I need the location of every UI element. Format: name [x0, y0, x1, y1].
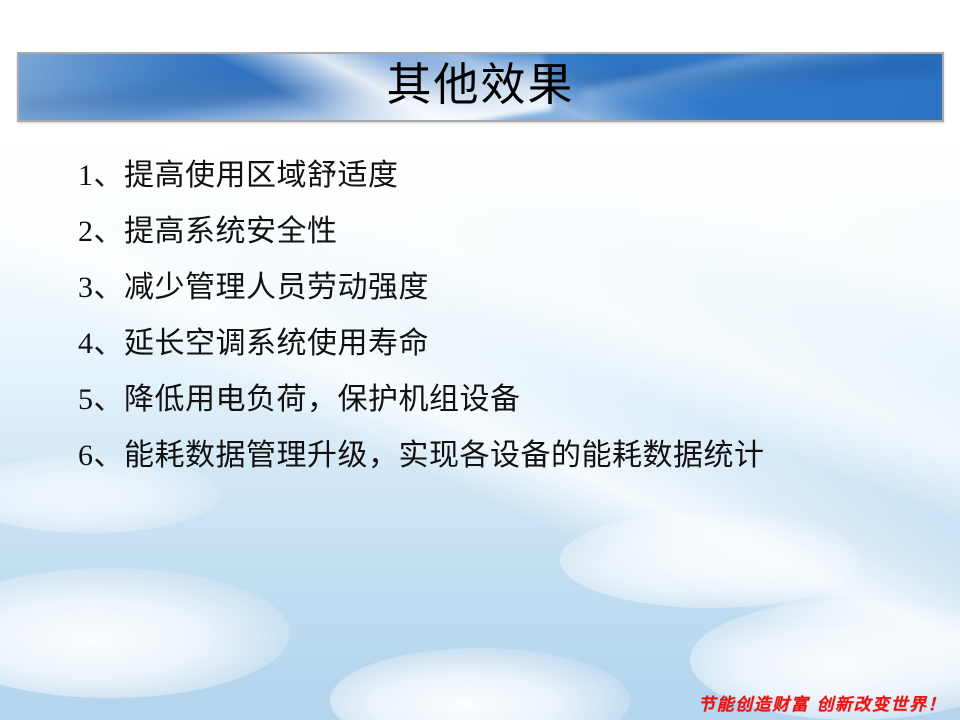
- presentation-slide: 其他效果 1、提高使用区域舒适度 2、提高系统安全性 3、减少管理人员劳动强度 …: [0, 0, 960, 720]
- list-item: 1、提高使用区域舒适度: [78, 148, 918, 204]
- footer-slogan: 节能创造财富 创新改变世界！: [698, 690, 946, 715]
- list-item: 6、能耗数据管理升级，实现各设备的能耗数据统计: [78, 428, 918, 484]
- list-item: 3、减少管理人员劳动强度: [78, 260, 918, 316]
- cloud-puff: [560, 512, 860, 608]
- list-item: 4、延长空调系统使用寿命: [78, 316, 918, 372]
- title-banner: 其他效果: [17, 52, 944, 122]
- list-item: 2、提高系统安全性: [78, 204, 918, 260]
- list-item: 5、降低用电负荷，保护机组设备: [78, 372, 918, 428]
- slide-title: 其他效果: [19, 54, 942, 120]
- slide-body-list: 1、提高使用区域舒适度 2、提高系统安全性 3、减少管理人员劳动强度 4、延长空…: [78, 148, 918, 484]
